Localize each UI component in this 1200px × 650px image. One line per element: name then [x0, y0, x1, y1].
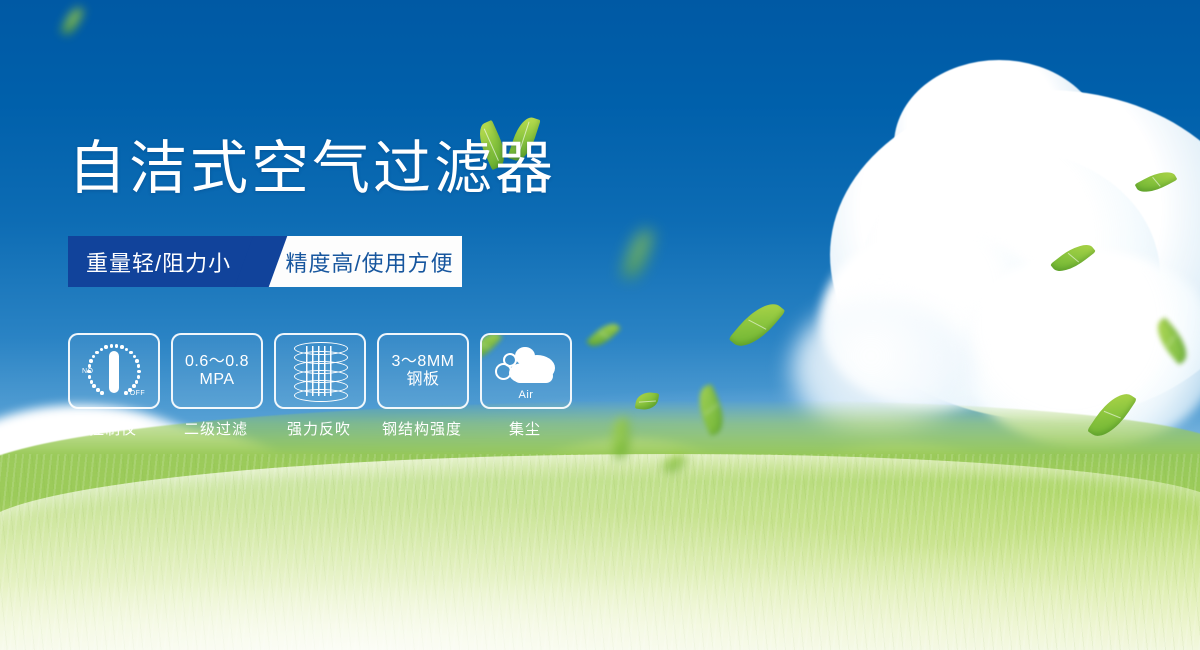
feature-caption: 控制仪 — [68, 418, 158, 439]
meadow-foreground — [0, 454, 1200, 650]
feature-caption: 钢结构强度 — [377, 418, 467, 439]
grass-texture — [0, 454, 1200, 650]
dial-tick — [92, 384, 96, 388]
feature-text-line1: 3～8MM — [392, 353, 455, 370]
feature-caption: 二级过滤 — [171, 418, 261, 439]
feature-item-steel[interactable]: 3～8MM 钢板 钢结构强度 — [377, 333, 467, 439]
feature-caption: 强力反吹 — [274, 418, 364, 439]
feature-item-blowback[interactable]: 强力反吹 — [274, 333, 364, 439]
feature-item-filtration[interactable]: 0.6～0.8 MPA 二级过滤 — [171, 333, 261, 439]
dial-lever — [109, 351, 119, 393]
cloud-puff — [515, 347, 535, 365]
feature-caption: 集尘 — [480, 418, 570, 439]
feature-text-line1: 0.6～0.8 — [185, 353, 249, 370]
filter-stack-icon — [294, 342, 346, 400]
dial-tick — [129, 351, 133, 355]
feature-list: NO OFF 控制仪 0.6～0.8 MPA 二级过滤 强 — [68, 333, 570, 439]
dial-tick — [92, 355, 96, 359]
feature-icon-box: NO OFF — [68, 333, 160, 409]
dust-particle — [503, 353, 517, 367]
dial-tick — [124, 391, 128, 395]
pressure-text-icon: 0.6～0.8 MPA — [185, 353, 249, 390]
page-title: 自洁式空气过滤器 — [68, 140, 556, 198]
feature-icon-box: Air — [480, 333, 572, 409]
feature-item-dust[interactable]: Air 集尘 — [480, 333, 570, 439]
dial-tick — [95, 351, 99, 355]
steel-plate-text-icon: 3～8MM 钢板 — [392, 353, 455, 390]
dial-tick — [89, 359, 93, 363]
dial-tick — [100, 348, 104, 352]
dial-tick — [96, 388, 100, 392]
dial-tick — [104, 345, 108, 349]
subtitle-bar: 重量轻/阻力小 精度高/使用方便 — [68, 236, 462, 287]
feature-icon-box — [274, 333, 366, 409]
dial-tick — [90, 380, 94, 384]
dial-tick — [137, 375, 141, 379]
feature-text-line2: 钢板 — [392, 371, 455, 389]
subtitle-left-label: 重量轻/阻力小 — [68, 236, 261, 287]
dial-tick — [137, 364, 141, 368]
control-dial-icon: NO OFF — [83, 342, 145, 400]
dial-tick — [133, 355, 137, 359]
dial-tick — [115, 344, 119, 348]
feature-item-control[interactable]: NO OFF 控制仪 — [68, 333, 158, 439]
dial-tick — [128, 388, 132, 392]
air-label: Air — [493, 389, 559, 401]
dial-tick — [132, 384, 136, 388]
subtitle-right-label: 精度高/使用方便 — [261, 236, 462, 287]
dial-tick — [137, 370, 141, 374]
dial-tick — [100, 391, 104, 395]
dial-tick — [135, 359, 139, 363]
dial-tick — [88, 375, 92, 379]
dial-tick — [125, 348, 129, 352]
feature-icon-box: 3～8MM 钢板 — [377, 333, 469, 409]
dial-tick — [110, 344, 114, 348]
air-cloud-icon: Air — [493, 343, 559, 399]
dial-tick — [120, 345, 124, 349]
dial-tick — [87, 370, 91, 374]
dial-label-off: OFF — [130, 390, 145, 397]
dial-tick — [135, 380, 139, 384]
feature-icon-box: 0.6～0.8 MPA — [171, 333, 263, 409]
promo-banner: 自洁式空气过滤器 重量轻/阻力小 精度高/使用方便 NO OFF 控制仪 0.6… — [0, 0, 1200, 650]
filter-disc — [294, 389, 348, 402]
feature-text-line2: MPA — [185, 371, 249, 389]
cloud-puff — [513, 369, 553, 383]
grass-highlight — [0, 484, 1200, 650]
